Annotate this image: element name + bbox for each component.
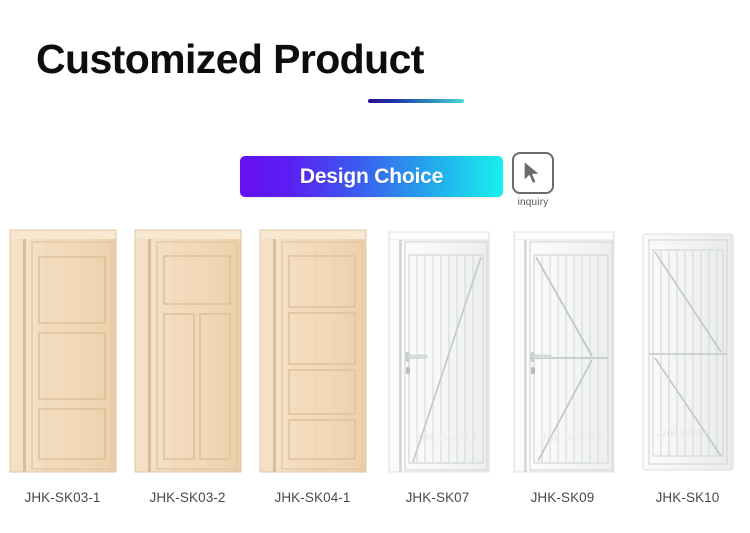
cursor-arrow-icon [523, 160, 545, 186]
door-image-jhk-sk09[interactable]: JHK DOORS [508, 228, 618, 474]
product-code-label: JHK-SK03-1 [0, 485, 125, 511]
design-choice-label: Design Choice [300, 165, 443, 189]
inquiry-icon-box [512, 152, 554, 194]
product-code-label: JHK-SK10 [625, 485, 750, 511]
door-image-jhk-sk03-2[interactable] [133, 228, 243, 474]
door-illustration [8, 228, 118, 474]
product-card[interactable]: JHK DOORS [375, 228, 500, 474]
door-image-jhk-sk07[interactable]: JHK DOORS [383, 228, 493, 474]
product-card[interactable] [250, 228, 375, 474]
door-image-jhk-sk04-1[interactable] [258, 228, 368, 474]
door-image-jhk-sk10[interactable]: JHK DOORS [633, 228, 743, 474]
product-card[interactable]: JHK DOORS [625, 228, 750, 474]
door-illustration: JHK DOORS [633, 228, 743, 474]
door-illustration: JHK DOORS [383, 228, 493, 474]
product-showcase-page: Customized Product Design Choice inquiry [0, 0, 750, 533]
door-illustration [133, 228, 243, 474]
title-accent-bar [368, 99, 464, 103]
door-illustration: JHK DOORS [508, 228, 618, 474]
svg-text:JHK DOORS: JHK DOORS [541, 433, 603, 443]
inquiry-label: inquiry [518, 197, 549, 208]
product-card[interactable] [0, 228, 125, 474]
svg-text:JHK DOORS: JHK DOORS [657, 428, 719, 438]
page-title: Customized Product [36, 39, 424, 80]
svg-text:JHK DOORS: JHK DOORS [416, 433, 478, 443]
door-illustration [258, 228, 368, 474]
product-card[interactable]: JHK DOORS [500, 228, 625, 474]
product-labels-row: JHK-SK03-1 JHK-SK03-2 JHK-SK04-1 JHK-SK0… [0, 485, 750, 511]
product-code-label: JHK-SK09 [500, 485, 625, 511]
door-image-jhk-sk03-1[interactable] [8, 228, 118, 474]
product-code-label: JHK-SK07 [375, 485, 500, 511]
design-choice-button[interactable]: Design Choice [240, 156, 503, 197]
product-code-label: JHK-SK04-1 [250, 485, 375, 511]
product-card[interactable] [125, 228, 250, 474]
product-code-label: JHK-SK03-2 [125, 485, 250, 511]
product-grid: JHK DOORS [0, 228, 750, 474]
inquiry-button[interactable]: inquiry [512, 152, 554, 214]
